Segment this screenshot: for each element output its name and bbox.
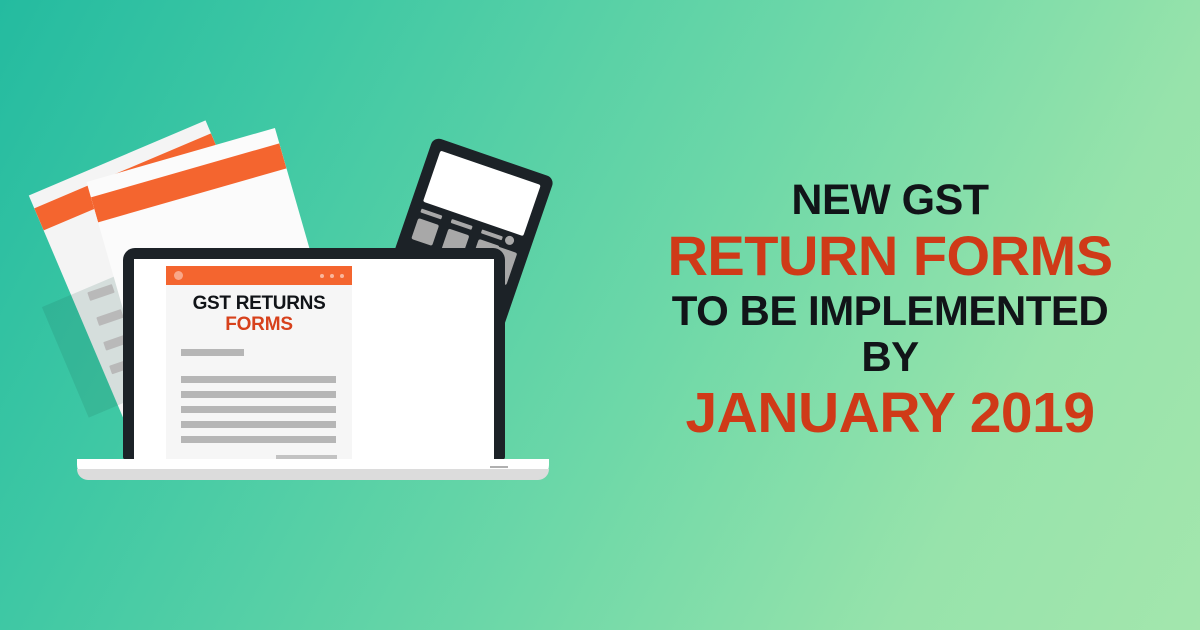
browser-menu-dot-icon: [330, 274, 334, 278]
browser-menu-dot-icon: [320, 274, 324, 278]
laptop-icon: GST RETURNS FORMS: [123, 248, 505, 460]
laptop-screen: GST RETURNS FORMS: [134, 259, 494, 460]
gst-illustration: GST RETURNS FORMS: [0, 0, 620, 630]
calculator-key: [411, 218, 439, 246]
screen-text-line: [181, 406, 336, 413]
calculator-key-ledge: [420, 209, 442, 220]
document-header-band: [91, 143, 287, 222]
screen-subtitle: FORMS: [166, 314, 352, 336]
headline-line-5: JANUARY 2019: [600, 384, 1180, 443]
calculator-key-ledge: [481, 229, 503, 240]
screen-text-line: [181, 376, 336, 383]
browser-logo-dot-icon: [174, 271, 183, 280]
browser-title-bar: [166, 266, 352, 285]
calculator-indicator-dot: [504, 235, 515, 246]
screen-text-line: [181, 421, 336, 428]
screen-title: GST RETURNS: [166, 293, 352, 315]
browser-menu-dot-icon: [340, 274, 344, 278]
gst-promo-banner: GST RETURNS FORMS NEW GST RETURN FORMS T…: [0, 0, 1200, 630]
calculator-display: [423, 151, 541, 237]
calculator-key-ledge: [451, 219, 473, 230]
headline-line-4: BY: [600, 335, 1180, 379]
laptop-base-mark: [490, 466, 508, 468]
headline-line-1: NEW GST: [600, 178, 1180, 223]
headline-line-3: TO BE IMPLEMENTED: [600, 289, 1180, 333]
screen-text-line: [181, 349, 244, 356]
laptop-base-lip: [77, 469, 549, 480]
screen-text-line: [181, 391, 336, 398]
browser-window: GST RETURNS FORMS: [166, 266, 352, 460]
headline-line-2: RETURN FORMS: [600, 227, 1180, 285]
headline-block: NEW GST RETURN FORMS TO BE IMPLEMENTED B…: [600, 178, 1180, 444]
screen-text-line: [181, 436, 336, 443]
